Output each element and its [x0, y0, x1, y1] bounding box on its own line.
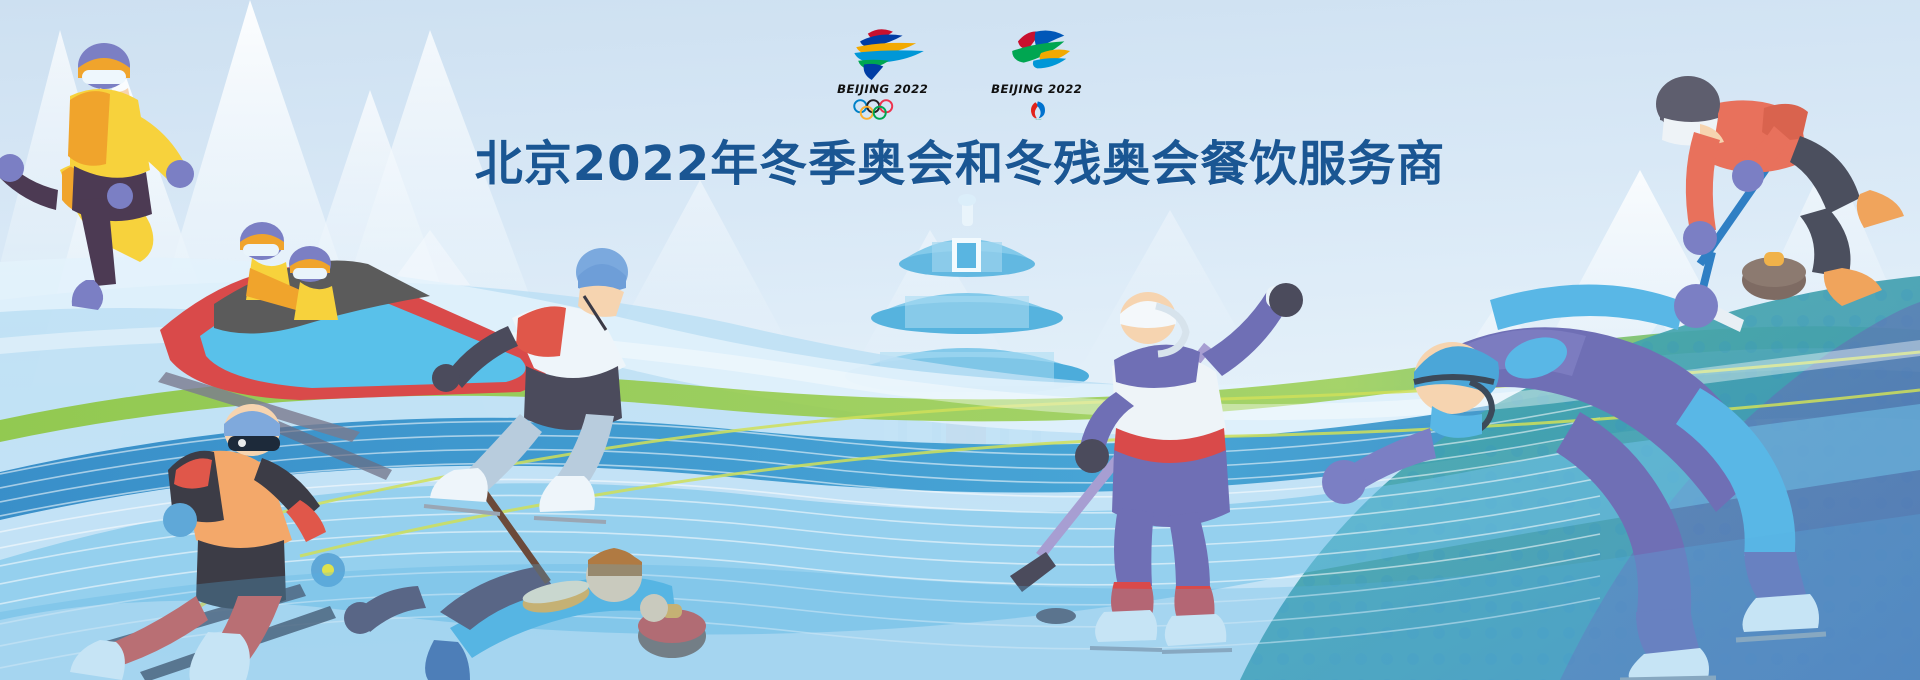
emblem-row: BEIJING 2022 BEIJING 2022 [0, 24, 1920, 120]
olympics-banner: BEIJING 2022 BEIJING 2022 [0, 0, 1920, 680]
beijing-2022-paralympic-emblem [989, 24, 1086, 80]
paralympic-agitos-icon [1003, 99, 1071, 120]
beijing-2022-olympic-emblem [835, 24, 932, 80]
olympic-emblem-block: BEIJING 2022 [828, 24, 938, 120]
olympic-wordmark: BEIJING 2022 [837, 82, 928, 96]
paralympic-wordmark: BEIJING 2022 [991, 82, 1082, 96]
olympic-rings-icon [849, 99, 917, 120]
paralympic-emblem-block: BEIJING 2022 [982, 24, 1092, 120]
page-title: 北京2022年冬季奥会和冬残奥会餐饮服务商 [0, 124, 1920, 194]
